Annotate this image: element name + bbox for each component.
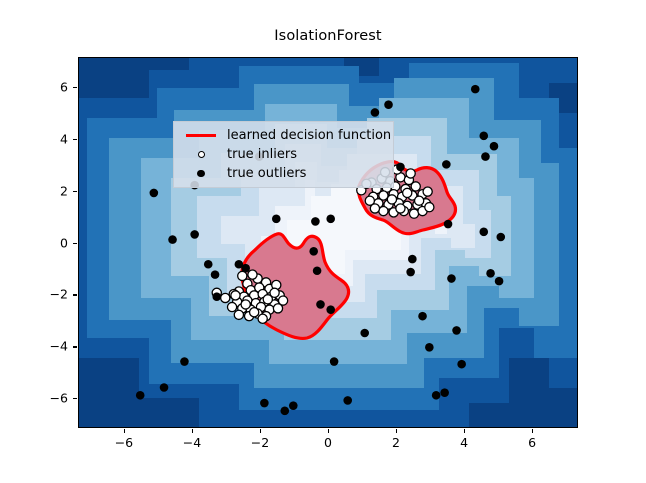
scatter-point xyxy=(384,100,393,109)
scatter-point xyxy=(204,260,213,269)
y-tick-label: 2 xyxy=(60,183,68,198)
scatter-point xyxy=(403,188,412,197)
y-tick-mark xyxy=(73,139,77,140)
scatter-point xyxy=(272,215,281,224)
scatter-point xyxy=(258,314,267,323)
legend-item-decision-function: learned decision function xyxy=(181,126,386,145)
scatter-point xyxy=(330,357,339,366)
scatter-point xyxy=(396,204,405,213)
x-tick-mark xyxy=(396,429,397,433)
y-tick-label: 4 xyxy=(60,131,68,146)
scatter-point xyxy=(425,343,434,352)
y-tick-mark xyxy=(73,294,77,295)
scatter-point xyxy=(309,247,318,256)
page-title: IsolationForest xyxy=(78,28,578,44)
scatter-point xyxy=(425,203,434,212)
scatter-point xyxy=(409,209,418,218)
legend-label-decision-function: learned decision function xyxy=(227,128,391,143)
scatter-point xyxy=(471,85,480,94)
x-tick-label: −4 xyxy=(183,435,201,450)
scatter-point xyxy=(406,268,415,277)
scatter-point xyxy=(360,329,369,338)
scatter-point xyxy=(168,235,177,244)
x-tick-label: 0 xyxy=(324,435,332,450)
y-tick-label: −2 xyxy=(50,287,68,302)
scatter-point xyxy=(211,270,220,279)
scatter-point xyxy=(387,195,396,204)
scatter-point xyxy=(365,196,374,205)
scatter-point xyxy=(371,108,380,117)
scatter-point xyxy=(411,182,420,191)
scatter-point xyxy=(160,383,169,392)
scatter-point xyxy=(379,206,388,215)
filled-circle-icon xyxy=(181,170,221,178)
scatter-point xyxy=(326,215,335,224)
y-tick-label: 0 xyxy=(60,235,68,250)
scatter-point xyxy=(273,304,282,313)
scatter-point xyxy=(190,230,199,239)
scatter-point xyxy=(250,308,259,317)
x-tick-label: −6 xyxy=(115,435,133,450)
scatter-point xyxy=(241,264,250,273)
scatter-point xyxy=(231,291,240,300)
scatter-point xyxy=(479,228,488,237)
y-tick-mark xyxy=(73,398,77,399)
scatter-point xyxy=(221,293,230,302)
scatter-point xyxy=(406,169,415,178)
scatter-point xyxy=(481,152,490,161)
scatter-point xyxy=(234,310,243,319)
scatter-point xyxy=(447,274,456,283)
legend-label-true-inliers: true inliers xyxy=(227,147,297,162)
legend-item-true-inliers: true inliers xyxy=(181,145,386,164)
y-tick-mark xyxy=(73,346,77,347)
x-tick-label: 6 xyxy=(528,435,536,450)
scatter-point xyxy=(248,270,257,279)
scatter-point xyxy=(316,300,325,309)
scatter-point xyxy=(212,292,221,301)
scatter-point xyxy=(238,271,247,280)
scatter-point xyxy=(326,305,335,314)
scatter-point xyxy=(280,407,289,416)
y-tick-label: 6 xyxy=(60,79,68,94)
y-tick-mark xyxy=(73,87,77,88)
x-tick-label: 2 xyxy=(392,435,400,450)
x-tick-mark xyxy=(328,429,329,433)
scatter-point xyxy=(442,160,451,169)
scatter-point xyxy=(418,312,427,321)
scatter-point xyxy=(496,233,505,242)
scatter-point xyxy=(260,399,269,408)
scatter-point xyxy=(423,187,432,196)
scatter-point xyxy=(440,388,449,397)
scatter-point xyxy=(444,220,453,229)
scatter-point xyxy=(452,326,461,335)
scatter-point xyxy=(408,255,417,264)
scatter-point xyxy=(150,189,159,198)
open-circle-icon xyxy=(181,151,221,158)
scatter-point xyxy=(136,391,145,400)
legend-label-true-outliers: true outliers xyxy=(227,166,306,181)
x-tick-label: 4 xyxy=(460,435,468,450)
red-line-icon xyxy=(181,134,221,137)
scatter-point xyxy=(241,300,250,309)
y-tick-mark xyxy=(73,243,77,244)
scatter-point xyxy=(479,132,488,141)
scatter-point xyxy=(227,302,236,311)
scatter-point xyxy=(343,396,352,405)
scatter-point xyxy=(495,277,504,286)
scatter-series-true-inliers xyxy=(212,165,434,323)
x-tick-mark xyxy=(124,429,125,433)
x-tick-mark xyxy=(260,429,261,433)
x-tick-mark xyxy=(464,429,465,433)
scatter-point xyxy=(486,269,495,278)
scatter-point xyxy=(180,357,189,366)
scatter-point xyxy=(263,295,272,304)
y-tick-label: −6 xyxy=(50,391,68,406)
x-tick-label: −2 xyxy=(251,435,269,450)
scatter-point xyxy=(313,266,322,275)
x-tick-mark xyxy=(532,429,533,433)
scatter-point xyxy=(432,391,441,400)
chart-legend: learned decision function true inliers t… xyxy=(173,121,394,188)
scatter-point xyxy=(396,163,405,172)
scatter-point xyxy=(311,217,320,226)
matplotlib-figure: IsolationForest xyxy=(0,0,646,483)
legend-item-true-outliers: true outliers xyxy=(181,164,386,183)
y-tick-mark xyxy=(73,191,77,192)
plot-axes: learned decision function true inliers t… xyxy=(78,57,578,428)
y-tick-label: −4 xyxy=(50,339,68,354)
x-tick-mark xyxy=(192,429,193,433)
scatter-point xyxy=(415,196,424,205)
scatter-points-layer xyxy=(79,58,578,428)
scatter-point xyxy=(457,360,466,369)
scatter-point xyxy=(490,142,499,151)
scatter-point xyxy=(289,401,298,410)
